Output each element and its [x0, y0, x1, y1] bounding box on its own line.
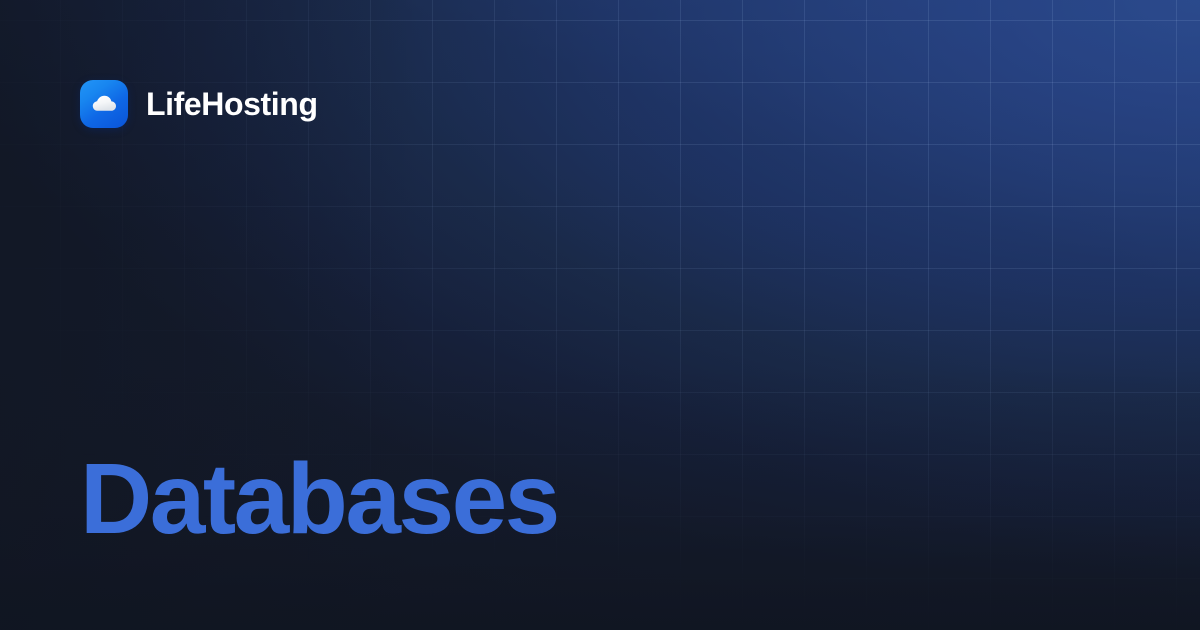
- brand-name: LifeHosting: [146, 88, 318, 120]
- og-banner-canvas: LifeHosting Databases: [0, 0, 1200, 630]
- cloud-icon: [80, 80, 128, 128]
- brand-lockup: LifeHosting: [80, 80, 318, 128]
- page-title: Databases: [80, 444, 558, 554]
